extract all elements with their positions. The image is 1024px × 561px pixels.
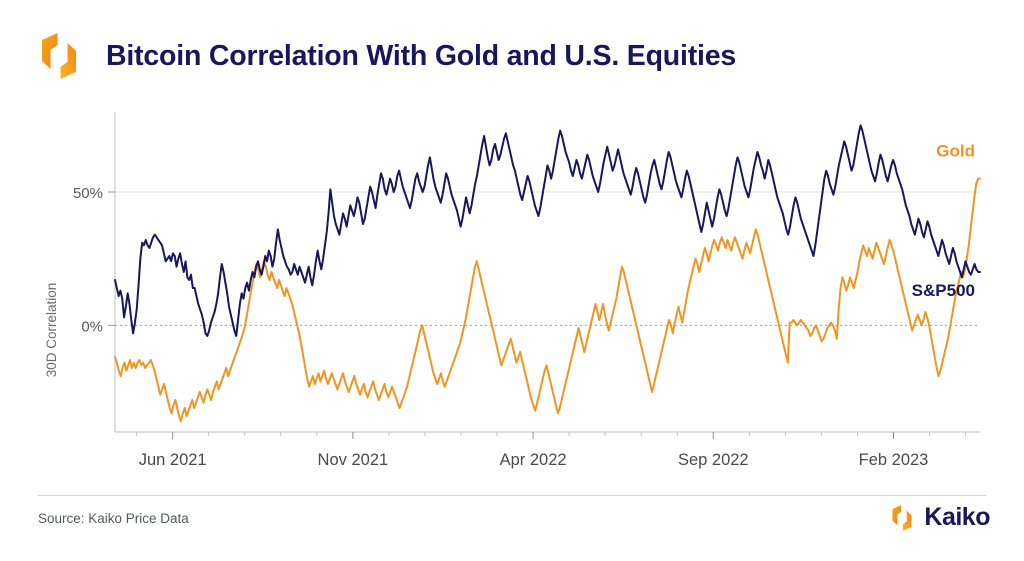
series-label-gold: Gold	[936, 142, 975, 161]
header: Bitcoin Correlation With Gold and U.S. E…	[0, 0, 1024, 112]
series-line-gold	[115, 179, 980, 422]
footer-brand: Kaiko	[889, 503, 990, 532]
y-axis-ticks: 0%50%	[73, 185, 115, 335]
x-tick-label: Apr 2022	[500, 451, 567, 469]
x-tick-label: Nov 2021	[318, 451, 389, 469]
axis-spines	[115, 112, 980, 432]
page-title: Bitcoin Correlation With Gold and U.S. E…	[106, 40, 736, 73]
chart-page: Bitcoin Correlation With Gold and U.S. E…	[0, 0, 1024, 561]
series-inline-labels: GoldS&P500	[912, 142, 975, 300]
brand-wordmark: Kaiko	[924, 503, 990, 532]
series-line-s-p500	[115, 125, 980, 336]
x-axis-ticks: Jun 2021Nov 2021Apr 2022Sep 2022Feb 2023	[137, 432, 966, 469]
chart-container: 30D Correlation 0%50% Jun 2021Nov 2021Ap…	[0, 100, 1024, 485]
y-tick-label: 0%	[81, 318, 103, 335]
kaiko-hexagon-icon	[889, 504, 915, 532]
footer-divider	[38, 495, 986, 496]
y-tick-label: 50%	[73, 185, 103, 202]
x-tick-label: Jun 2021	[139, 451, 207, 469]
correlation-line-chart: 30D Correlation 0%50% Jun 2021Nov 2021Ap…	[0, 100, 1024, 485]
gridlines	[115, 192, 980, 325]
x-tick-label: Feb 2023	[859, 451, 929, 469]
series-label-spx: S&P500	[912, 281, 975, 300]
x-tick-label: Sep 2022	[678, 451, 749, 469]
y-axis-title: 30D Correlation	[44, 283, 59, 378]
kaiko-hexagon-icon	[36, 31, 82, 81]
series-lines	[115, 125, 980, 421]
source-note: Source: Kaiko Price Data	[38, 511, 189, 526]
